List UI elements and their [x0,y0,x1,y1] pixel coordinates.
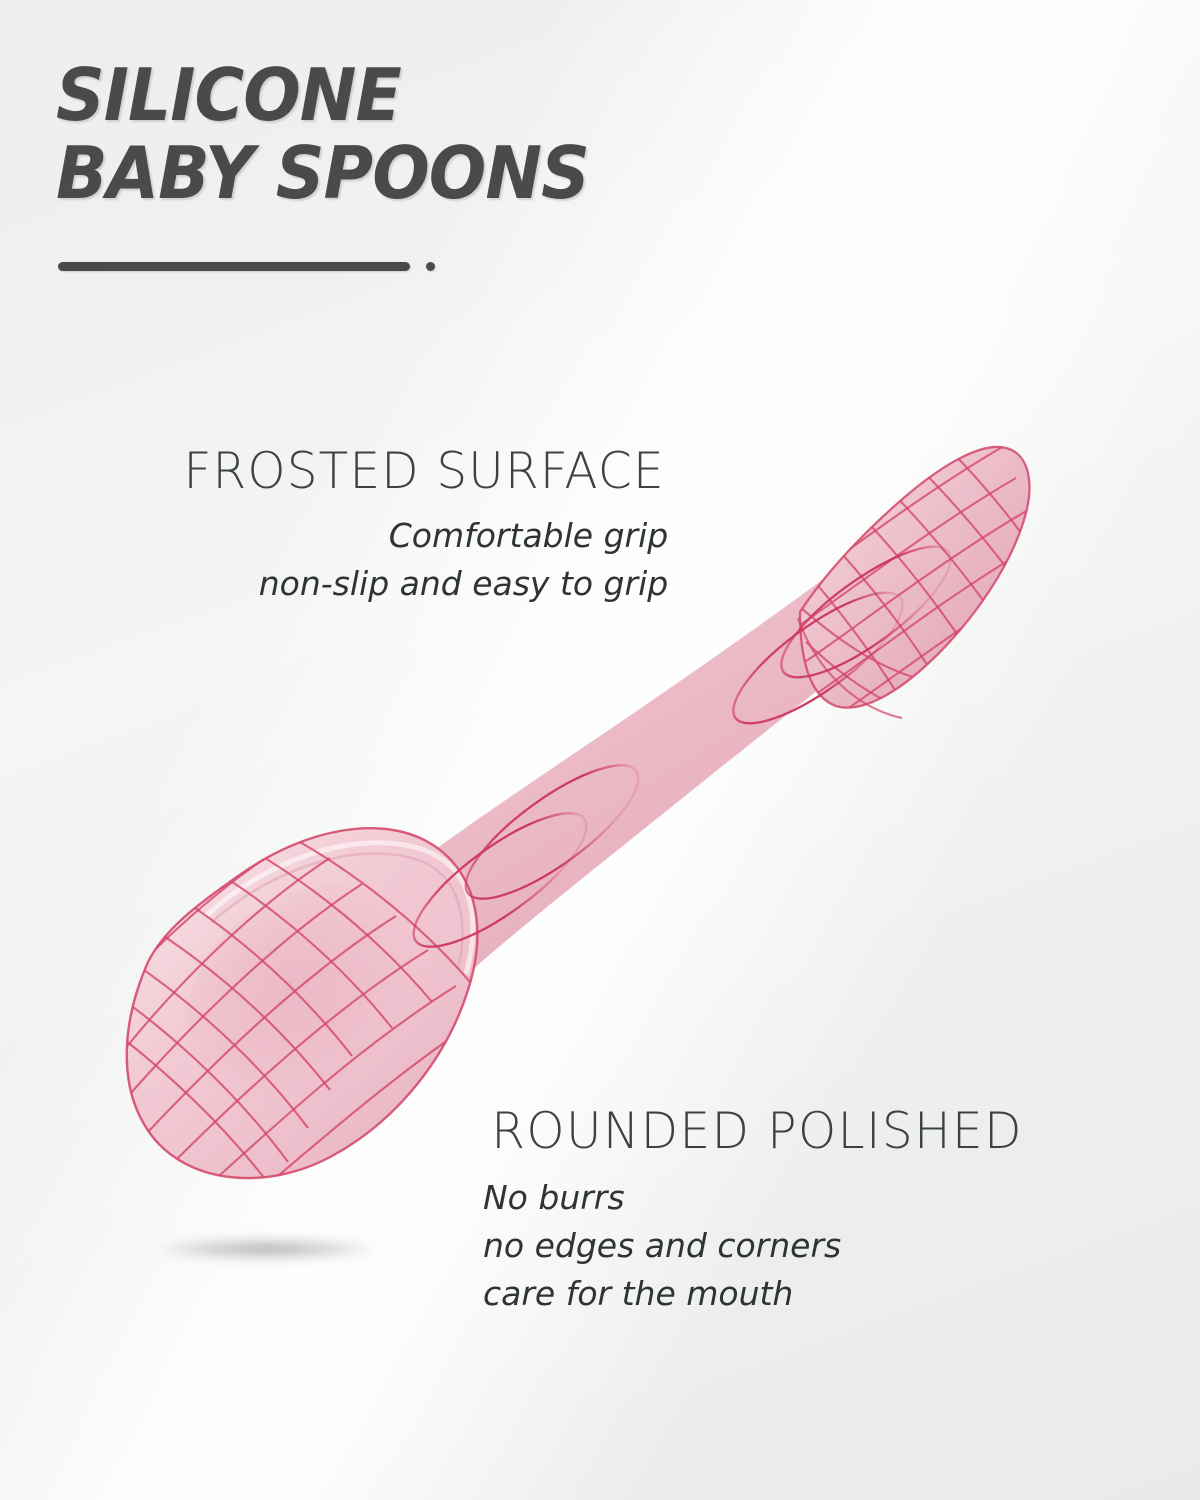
title-divider [58,262,435,271]
callout-rounded-line-2: no edges and corners [483,1222,1031,1270]
callout-frosted-line-2: non-slip and easy to grip [176,560,668,608]
divider-bar [58,262,410,271]
spoon-bowl [104,826,496,1198]
callout-rounded-line-1: No burrs [483,1174,1031,1222]
divider-dot [426,262,435,271]
callout-frosted-heading: FROSTED SURFACE [183,443,664,499]
callout-rounded-line-3: care for the mouth [483,1270,1031,1318]
callout-rounded-polished: ROUNDED POLISHED No burrs no edges and c… [483,1103,1031,1318]
callout-rounded-lines: No burrs no edges and corners care for t… [483,1174,1031,1318]
callout-frosted-lines: Comfortable grip non-slip and easy to gr… [176,512,672,608]
infographic-canvas: SILICONE BABY SPOONS [0,0,1200,1500]
page-title: SILICONE BABY SPOONS [56,56,623,212]
title-line-2: BABY SPOONS [56,134,589,212]
title-line-1: SILICONE [56,56,589,134]
callout-rounded-heading: ROUNDED POLISHED [491,1103,1023,1159]
spoon-drop-shadow [158,1238,374,1260]
callout-frosted-line-1: Comfortable grip [176,512,668,560]
callout-frosted-surface: FROSTED SURFACE Comfortable grip non-sli… [176,443,672,608]
